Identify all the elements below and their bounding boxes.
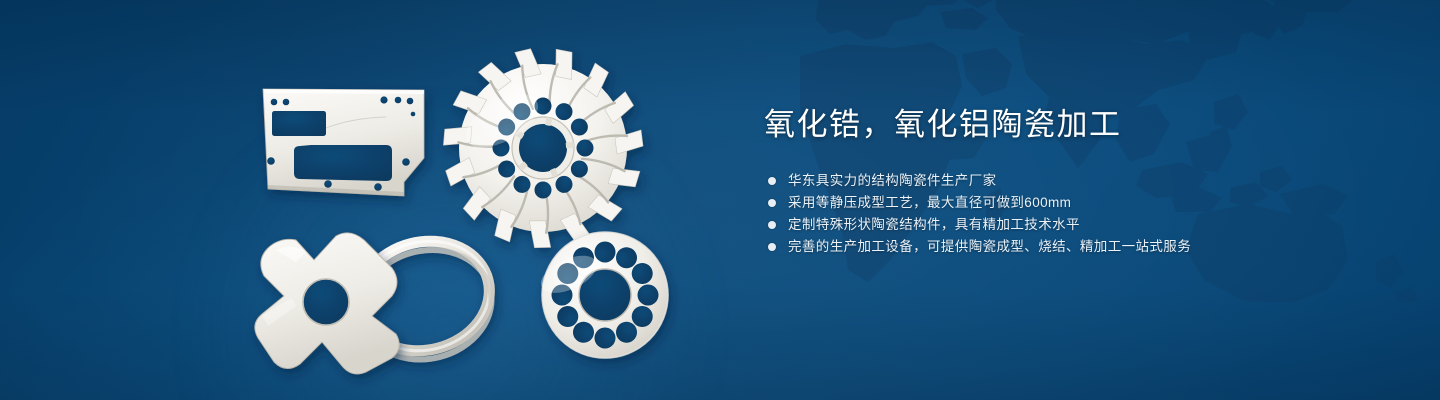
ceramic-perforated-disc (535, 232, 668, 358)
feature-text: 华东具实力的结构陶瓷件生产厂家 (788, 170, 997, 192)
feature-text: 完善的生产加工设备，可提供陶瓷成型、烧结、精加工一站式服务 (788, 236, 1191, 258)
bullet-dot-icon (768, 243, 776, 251)
feature-text: 定制特殊形状陶瓷结构件，具有精加工技术水平 (788, 214, 1080, 236)
bullet-dot-icon (768, 177, 776, 185)
page-title: 氧化锆，氧化铝陶瓷加工 (764, 104, 1384, 146)
feature-list: 华东具实力的结构陶瓷件生产厂家 采用等静压成型工艺，最大直径可做到600mm 定… (768, 170, 1384, 258)
list-item: 华东具实力的结构陶瓷件生产厂家 (768, 170, 1384, 192)
ceramic-cross-part (255, 233, 399, 374)
bullet-dot-icon (768, 221, 776, 229)
banner-copy: 氧化锆，氧化铝陶瓷加工 华东具实力的结构陶瓷件生产厂家 采用等静压成型工艺，最大… (764, 104, 1384, 258)
ceramic-impeller (441, 47, 643, 249)
ceramic-machined-plate (263, 89, 424, 196)
product-photo-group (0, 0, 760, 400)
feature-text: 采用等静压成型工艺，最大直径可做到600mm (788, 192, 1071, 214)
list-item: 采用等静压成型工艺，最大直径可做到600mm (768, 192, 1384, 214)
hero-banner: 氧化锆，氧化铝陶瓷加工 华东具实力的结构陶瓷件生产厂家 采用等静压成型工艺，最大… (0, 0, 1440, 400)
list-item: 定制特殊形状陶瓷结构件，具有精加工技术水平 (768, 214, 1384, 236)
list-item: 完善的生产加工设备，可提供陶瓷成型、烧结、精加工一站式服务 (768, 236, 1384, 258)
bullet-dot-icon (768, 199, 776, 207)
